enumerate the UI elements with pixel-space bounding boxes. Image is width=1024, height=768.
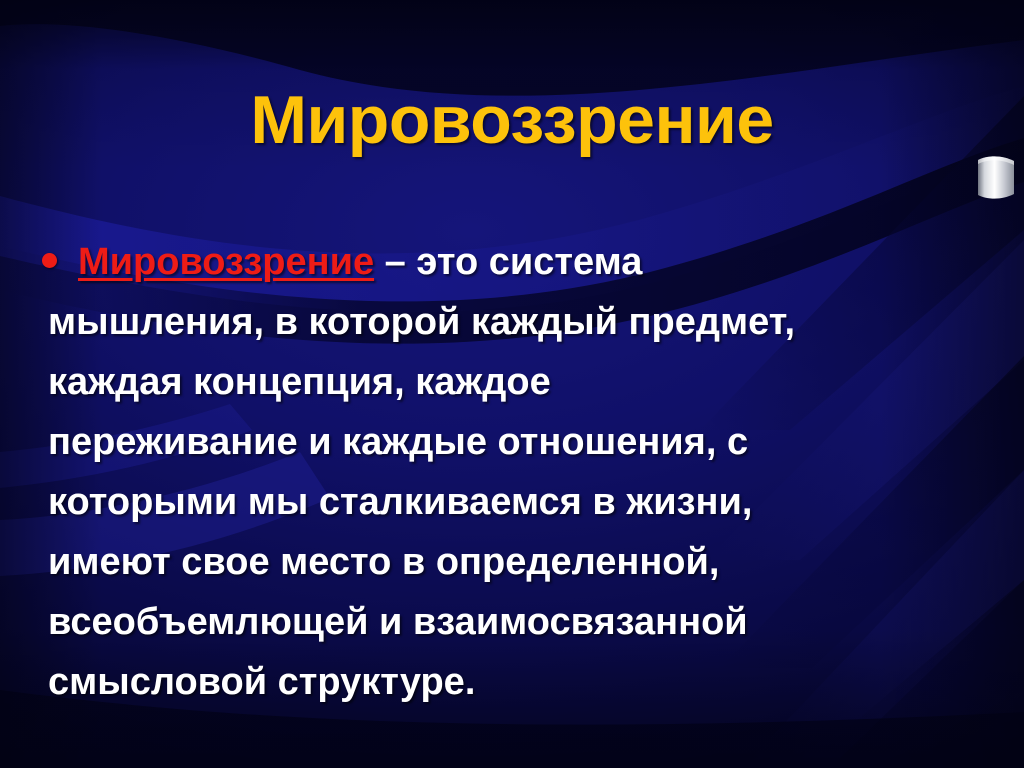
presentation-slide: Мировоззрение Мировоззрение – это систем… <box>0 0 1024 768</box>
content-body: Мировоззрение – это система мышления, в … <box>30 232 995 712</box>
em-dash: – <box>385 241 406 283</box>
silver-ribbon-icon <box>972 152 1020 204</box>
body-lines: мышления, в которой каждый предмет, кажд… <box>0 292 995 712</box>
body-line: каждая концепция, каждое <box>48 352 995 412</box>
title-container: Мировоззрение <box>0 86 1024 155</box>
highlighted-term: Мировоззрение <box>78 241 374 283</box>
body-line: мышления, в которой каждый предмет, <box>48 292 995 352</box>
bullet-first-line: Мировоззрение – это система <box>78 232 995 292</box>
body-line: всеобъемлющей и взаимосвязанной <box>48 592 995 652</box>
body-line: переживание и каждые отношения, с <box>48 412 995 472</box>
body-line: имеют свое место в определенной, <box>48 532 995 592</box>
bullet-point-icon <box>42 253 57 268</box>
lead-text: это система <box>416 241 642 283</box>
body-line: смысловой структуре. <box>48 652 995 712</box>
body-line: которыми мы сталкиваемся в жизни, <box>48 472 995 532</box>
slide-title: Мировоззрение <box>250 86 773 155</box>
bullet-item: Мировоззрение – это система <box>30 232 995 292</box>
